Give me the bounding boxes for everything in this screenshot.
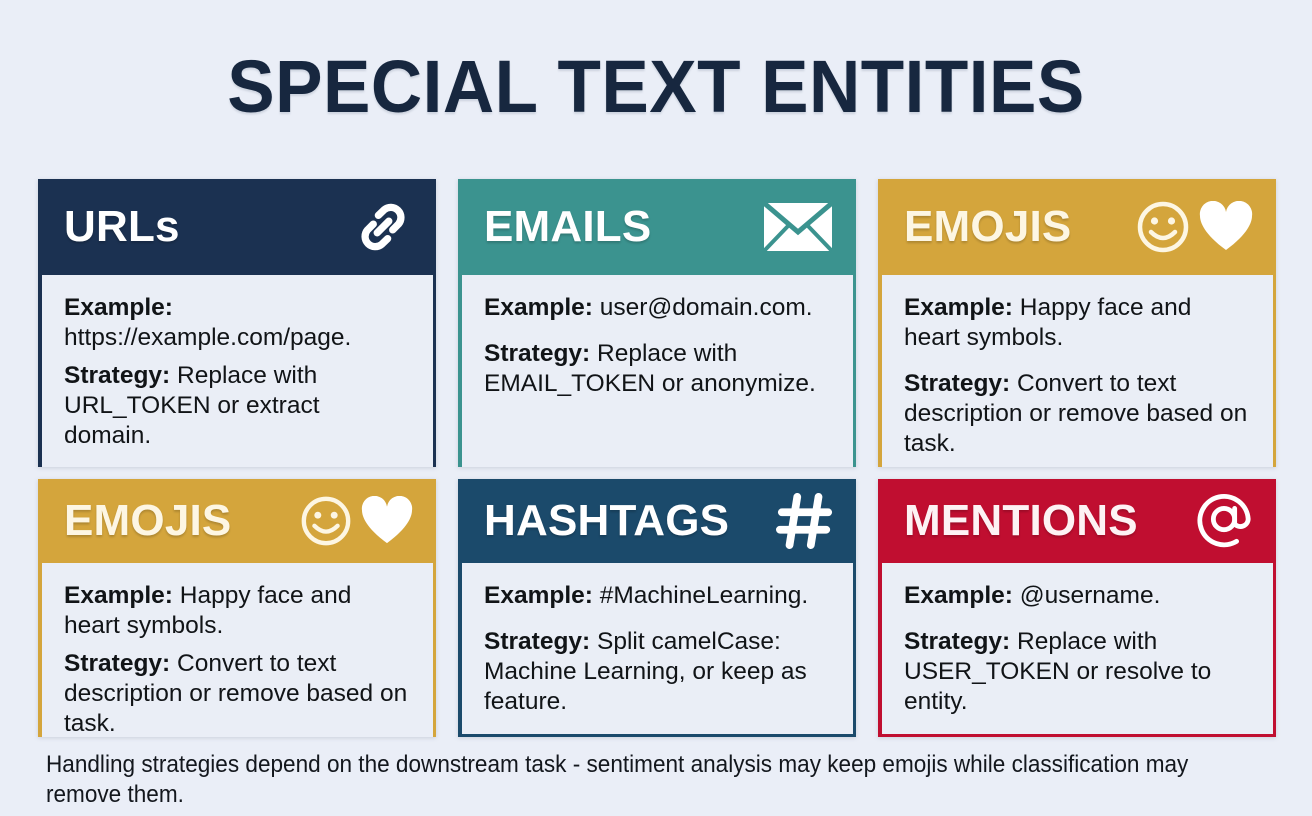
card-body-urls: Example: https://example.com/page. Strat… bbox=[38, 275, 436, 467]
card-title-emojis-bottom: EMOJIS bbox=[64, 497, 231, 545]
example-label: Example: bbox=[484, 582, 593, 609]
card-strategy-emojis-top: Strategy: Convert to text description or… bbox=[904, 369, 1253, 459]
footnote-text: Handling strategies depend on the downst… bbox=[46, 750, 1193, 810]
entity-card-emojis-bottom: EMOJIS Example: Happy face and bbox=[38, 479, 436, 737]
entity-card-emojis-top: EMOJIS Example: Happy face and bbox=[878, 179, 1276, 467]
card-example-emojis-bottom: Example: Happy face and heart symbols. bbox=[64, 581, 413, 641]
card-body-hashtags: Example: #MachineLearning. Strategy: Spl… bbox=[458, 563, 856, 737]
strategy-label: Strategy: bbox=[904, 628, 1010, 655]
card-body-mentions: Example: @username. Strategy: Replace wi… bbox=[878, 563, 1276, 737]
smiley-heart-icon bbox=[1134, 199, 1254, 255]
entity-card-mentions: MENTIONS Example: @username. Strategy: R… bbox=[878, 479, 1276, 737]
smiley-icon bbox=[1134, 199, 1192, 255]
card-body-emojis-top: Example: Happy face and heart symbols. S… bbox=[878, 275, 1276, 467]
card-header-mentions: MENTIONS bbox=[878, 479, 1276, 563]
strategy-label: Strategy: bbox=[64, 650, 170, 677]
entity-card-hashtags: HASHTAGS Example: #MachineLearn bbox=[458, 479, 856, 737]
card-strategy-mentions: Strategy: Replace with USER_TOKEN or res… bbox=[904, 627, 1253, 717]
card-title-mentions: MENTIONS bbox=[904, 497, 1138, 545]
smiley-icon bbox=[298, 494, 354, 548]
card-strategy-emojis-bottom: Strategy: Convert to text description or… bbox=[64, 649, 413, 737]
card-header-emails: EMAILS bbox=[458, 179, 856, 275]
example-value: user@domain.com. bbox=[600, 294, 813, 321]
link-icon bbox=[352, 196, 414, 258]
hash-icon bbox=[776, 492, 834, 550]
infographic-page: SPECIAL TEXT ENTITIES URLs bbox=[0, 0, 1312, 816]
example-label: Example: bbox=[64, 294, 173, 321]
strategy-label: Strategy: bbox=[904, 370, 1010, 397]
entity-card-grid: URLs Example: https://example.com/page. bbox=[38, 179, 1276, 737]
card-example-emojis-top: Example: Happy face and heart symbols. bbox=[904, 293, 1253, 353]
card-title-emojis-top: EMOJIS bbox=[904, 203, 1071, 251]
at-icon bbox=[1194, 491, 1254, 551]
card-body-emails: Example: user@domain.com. Strategy: Repl… bbox=[458, 275, 856, 467]
card-example-mentions: Example: @username. bbox=[904, 581, 1253, 611]
card-strategy-urls: Strategy: Replace with URL_TOKEN or extr… bbox=[64, 361, 413, 451]
card-title-urls: URLs bbox=[64, 203, 180, 251]
smiley-heart-icon bbox=[298, 494, 414, 548]
example-label: Example: bbox=[904, 294, 1013, 321]
example-value: #MachineLearning. bbox=[600, 582, 808, 609]
example-value: https://example.com/page. bbox=[64, 324, 351, 351]
example-label: Example: bbox=[904, 582, 1013, 609]
card-title-hashtags: HASHTAGS bbox=[484, 497, 729, 545]
heart-icon bbox=[360, 496, 414, 546]
card-header-emojis-bottom: EMOJIS bbox=[38, 479, 436, 563]
strategy-label: Strategy: bbox=[484, 340, 590, 367]
heart-icon bbox=[1198, 201, 1254, 253]
card-strategy-emails: Strategy: Replace with EMAIL_TOKEN or an… bbox=[484, 339, 833, 399]
card-example-hashtags: Example: #MachineLearning. bbox=[484, 581, 833, 611]
page-title: SPECIAL TEXT ENTITIES bbox=[26, 46, 1286, 128]
strategy-label: Strategy: bbox=[484, 628, 590, 655]
entity-card-urls: URLs Example: https://example.com/page. bbox=[38, 179, 436, 467]
card-header-emojis-top: EMOJIS bbox=[878, 179, 1276, 275]
example-value: @username. bbox=[1020, 582, 1161, 609]
card-example-emails: Example: user@domain.com. bbox=[484, 293, 833, 323]
card-title-emails: EMAILS bbox=[484, 203, 651, 251]
card-header-urls: URLs bbox=[38, 179, 436, 275]
example-label: Example: bbox=[64, 582, 173, 609]
card-example-urls: Example: https://example.com/page. bbox=[64, 293, 413, 353]
card-strategy-hashtags: Strategy: Split camelCase: Machine Learn… bbox=[484, 627, 833, 717]
entity-card-emails: EMAILS Example: user@domain.com. Strateg… bbox=[458, 179, 856, 467]
card-body-emojis-bottom: Example: Happy face and heart symbols. S… bbox=[38, 563, 436, 737]
envelope-icon bbox=[762, 199, 834, 255]
strategy-label: Strategy: bbox=[64, 362, 170, 389]
example-label: Example: bbox=[484, 294, 593, 321]
card-header-hashtags: HASHTAGS bbox=[458, 479, 856, 563]
